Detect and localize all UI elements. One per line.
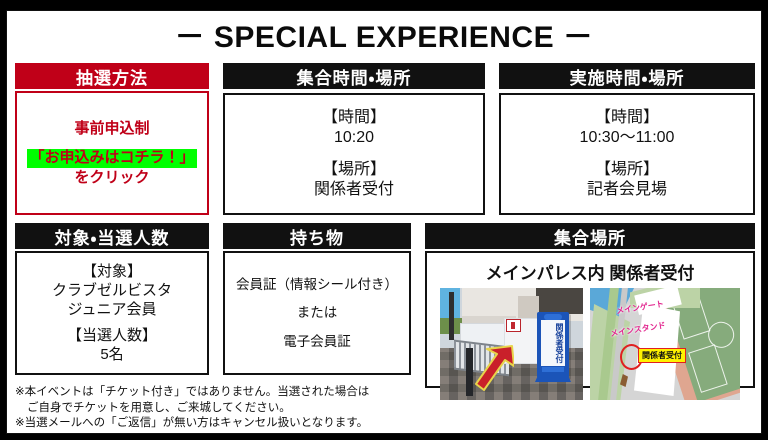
event-place-value: 記者会見場 (587, 180, 667, 200)
card-target-winners-body: 【対象】 クラブゼルビスタ ジュニア会員 【当選人数】 5名 (15, 251, 209, 375)
card-lottery-method-header: 抽選方法 (15, 63, 209, 89)
lottery-method-line-1: 事前申込制 (74, 119, 149, 138)
card-lottery-method-body: 事前申込制 「お申込みはコチラ！」 をクリック (15, 91, 209, 215)
meeting-location-caption: メインパレス内 関係者受付 (486, 259, 695, 284)
meeting-location-media: 関係者受付 (440, 288, 740, 400)
footnotes: ※本イベントは「チケット付き」ではありません。当選された場合は ご自身でチケット… (15, 385, 411, 431)
card-meeting-time-body: 【時間】 10:20 【場所】 関係者受付 (223, 93, 485, 215)
sign-footer (542, 367, 564, 372)
footnote-2: ※当選メールへの「ご返信」が無い方はキャンセル扱いとなります。 (15, 416, 411, 432)
card-meeting-location-header: 集合場所 (425, 223, 755, 249)
sign-text: 関係者受付 (543, 322, 563, 364)
meeting-place-label: 【場所】 (322, 160, 386, 180)
footnote-1-line-1: ※本イベントは「チケット付き」ではありません。当選された場合は (15, 385, 411, 401)
red-arrow-icon (474, 344, 514, 392)
card-event-time-body: 【時間】 10:30〜11:00 【場所】 記者会見場 (499, 93, 755, 215)
card-event-time: 実施時間・場所 【時間】 10:30〜11:00 【場所】 記者会見場 (499, 63, 755, 215)
meeting-place-value: 関係者受付 (314, 180, 394, 200)
reception-a-frame-sign: 関係者受付 (537, 312, 569, 378)
card-target-winners: 対象・当選人数 【対象】 クラブゼルビスタ ジュニア会員 【当選人数】 5名 (15, 223, 209, 375)
card-meeting-time-header: 集合時間・場所 (223, 63, 485, 89)
card-target-winners-header: 対象・当選人数 (15, 223, 209, 249)
map-reception-callout: 関係者受付 (638, 348, 686, 363)
card-bring-items: 持ち物 会員証（情報シール付き） または 電子会員証 (223, 223, 411, 375)
meeting-time-label: 【時間】 (322, 108, 386, 128)
winner-count-label: 【当選人数】 (67, 326, 157, 345)
bring-or: または (297, 304, 338, 321)
card-lottery-method: 抽選方法 事前申込制 「お申込みはコチラ！」 をクリック (15, 63, 209, 215)
target-value-1: クラブゼルビスタ (52, 281, 172, 300)
page-title: － SPECIAL EXPERIENCE － (7, 13, 761, 55)
page-title-text: － SPECIAL EXPERIENCE － (175, 12, 594, 56)
lottery-method-line-2: をクリック (74, 168, 149, 187)
event-time-value: 10:30〜11:00 (580, 128, 675, 148)
sign-legs (535, 374, 571, 382)
bring-item-2: 電子会員証 (283, 333, 351, 350)
card-bring-items-header: 持ち物 (223, 223, 411, 249)
card-bring-items-body: 会員証（情報シール付き） または 電子会員証 (223, 251, 411, 375)
bring-item-1: 会員証（情報シール付き） (236, 276, 398, 293)
target-value-2: ジュニア会員 (68, 300, 157, 319)
stadium-map: メインゲート メインスタンド 関係者受付 (590, 288, 740, 400)
photo-wall-sign-icon (506, 319, 521, 332)
venue-entrance-photo: 関係者受付 (440, 288, 583, 400)
event-place-label: 【場所】 (595, 160, 659, 180)
photo-ceiling-shadow (536, 288, 583, 314)
footnote-1-line-2: ご自身でチケットを用意し、ご来城してください。 (15, 401, 411, 417)
card-event-time-header: 実施時間・場所 (499, 63, 755, 89)
card-meeting-location: 集合場所 メインパレス内 関係者受付 (425, 223, 755, 388)
card-meeting-location-body: メインパレス内 関係者受付 (425, 251, 755, 388)
poster-sheet: － SPECIAL EXPERIENCE － 抽選方法 事前申込制 「お申込みは… (6, 10, 762, 434)
map-penalty-box-b (688, 344, 728, 393)
photo-dark-object (466, 348, 473, 396)
apply-link-highlight[interactable]: 「お申込みはコチラ！」 (27, 149, 196, 168)
poster-page: － SPECIAL EXPERIENCE － 抽選方法 事前申込制 「お申込みは… (0, 0, 768, 440)
winner-count-value: 5名 (100, 345, 123, 364)
event-time-label: 【時間】 (595, 108, 659, 128)
photo-post (449, 292, 454, 340)
meeting-time-value: 10:20 (334, 128, 374, 148)
target-label: 【対象】 (82, 262, 142, 281)
card-meeting-time: 集合時間・場所 【時間】 10:20 【場所】 関係者受付 (223, 63, 485, 215)
